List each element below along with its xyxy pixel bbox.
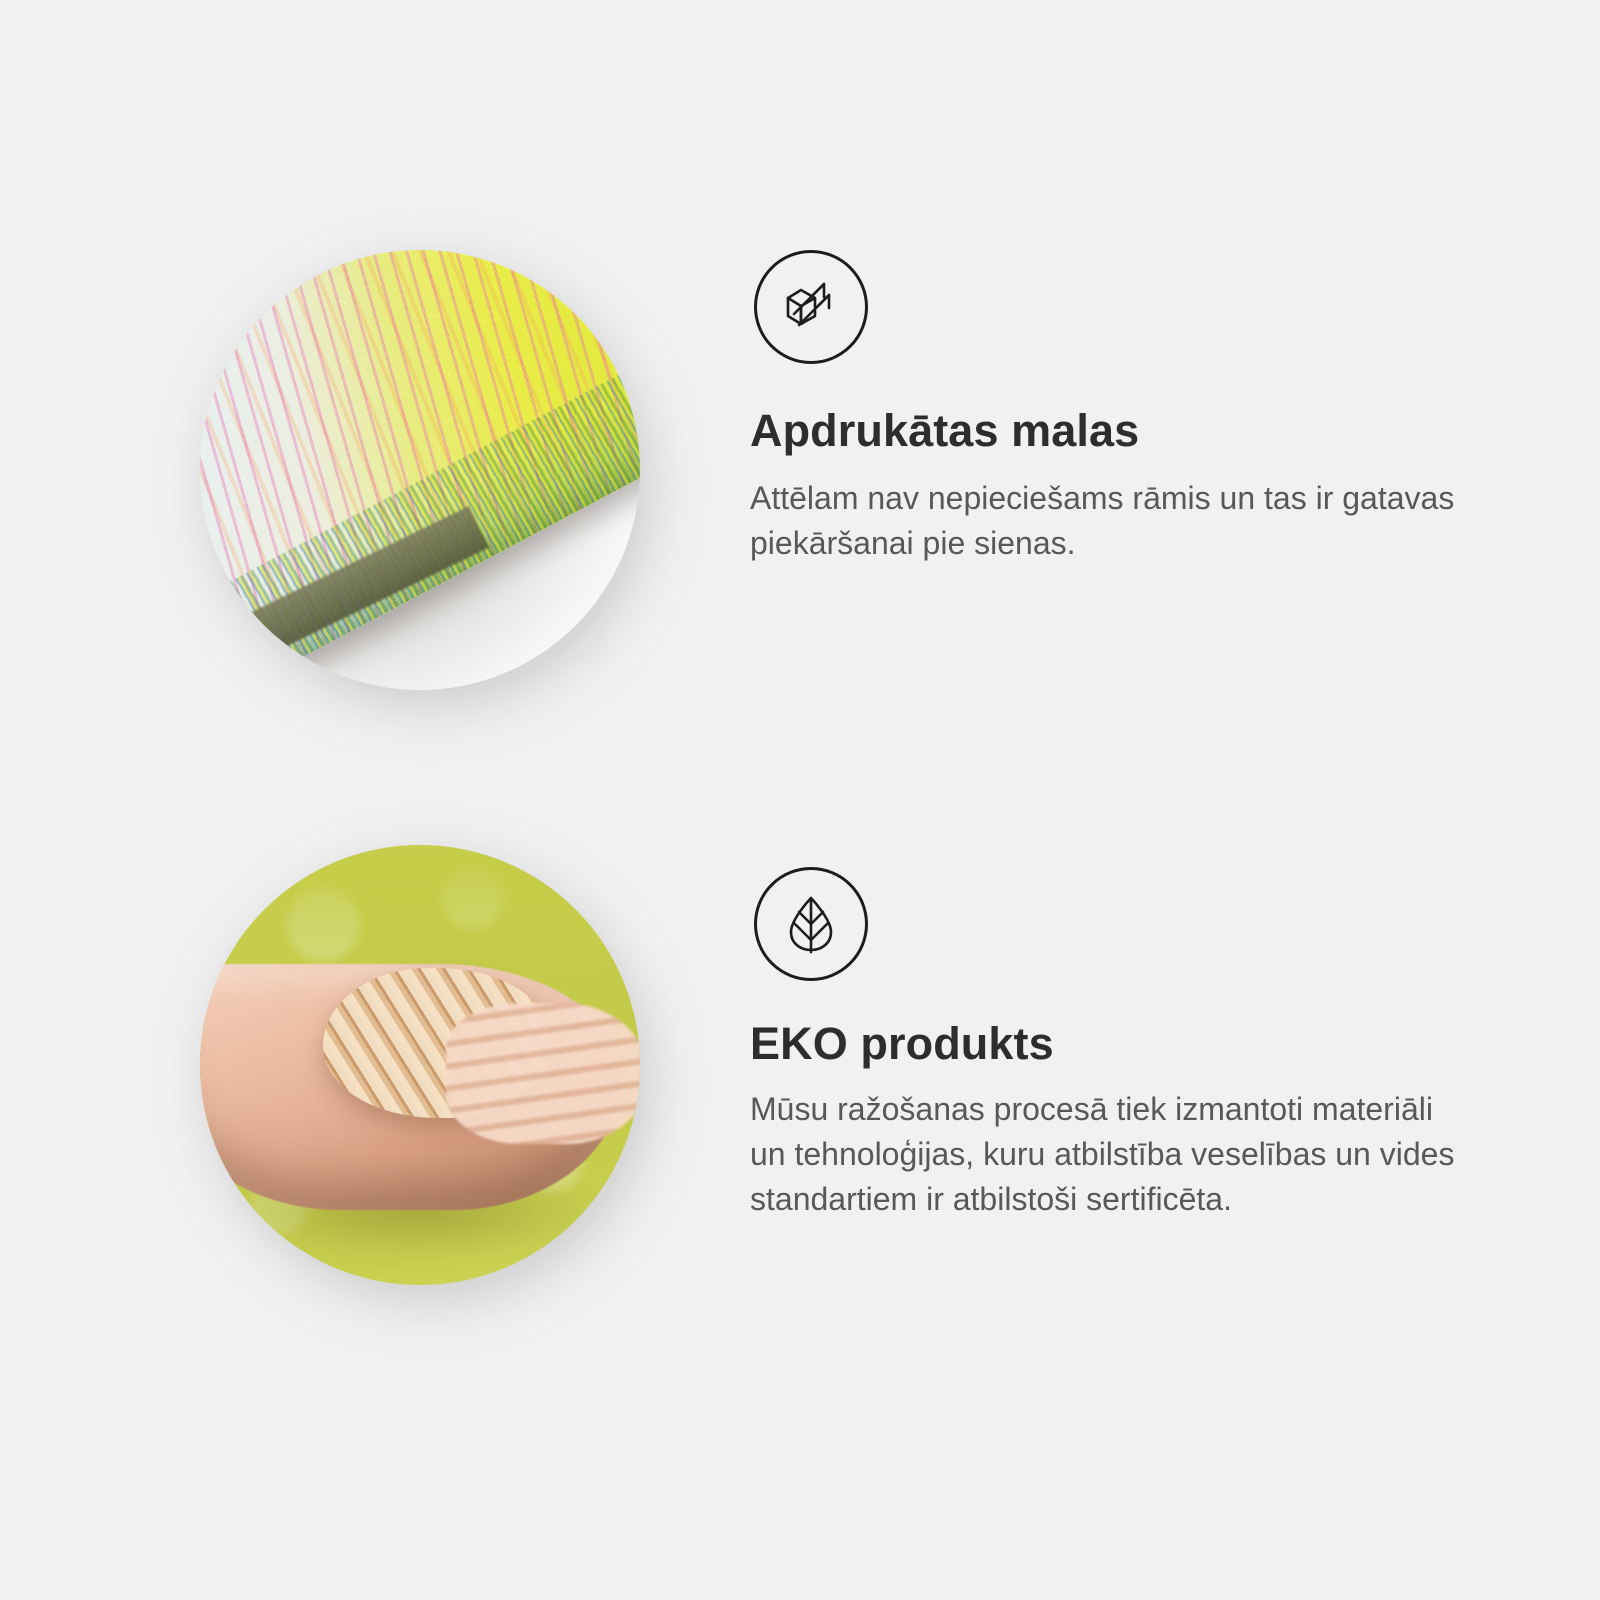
feature-title: Apdrukātas malas: [750, 406, 1490, 456]
feature-title: EKO produkts: [750, 1019, 1490, 1069]
canvas-photo-scene: [200, 250, 640, 690]
wood-chips-in-hands-photo: [200, 845, 660, 1305]
canvas-corner-photo-circle: [200, 250, 640, 690]
feature-text-column: Apdrukātas malas Attēlam nav nepieciešam…: [750, 250, 1490, 566]
canvas-corner-photo: [200, 250, 660, 710]
feature-text-column: EKO produkts Mūsu ražošanas procesā tiek…: [750, 867, 1490, 1223]
feature-block-printed-edges: Apdrukātas malas Attēlam nav nepieciešam…: [0, 250, 1600, 730]
leaf-icon: [754, 867, 868, 981]
eco-photo-scene: [200, 845, 640, 1285]
printed-edges-icon: [754, 250, 868, 364]
feature-block-eco-product: EKO produkts Mūsu ražošanas procesā tiek…: [0, 845, 1600, 1325]
feature-body: Mūsu ražošanas procesā tiek izmantoti ma…: [750, 1087, 1470, 1223]
feature-body: Attēlam nav nepieciešams rāmis un tas ir…: [750, 476, 1470, 567]
wood-chips-photo-circle: [200, 845, 640, 1285]
feature-panel: Apdrukātas malas Attēlam nav nepieciešam…: [0, 0, 1600, 1600]
fingers: [446, 1003, 640, 1144]
